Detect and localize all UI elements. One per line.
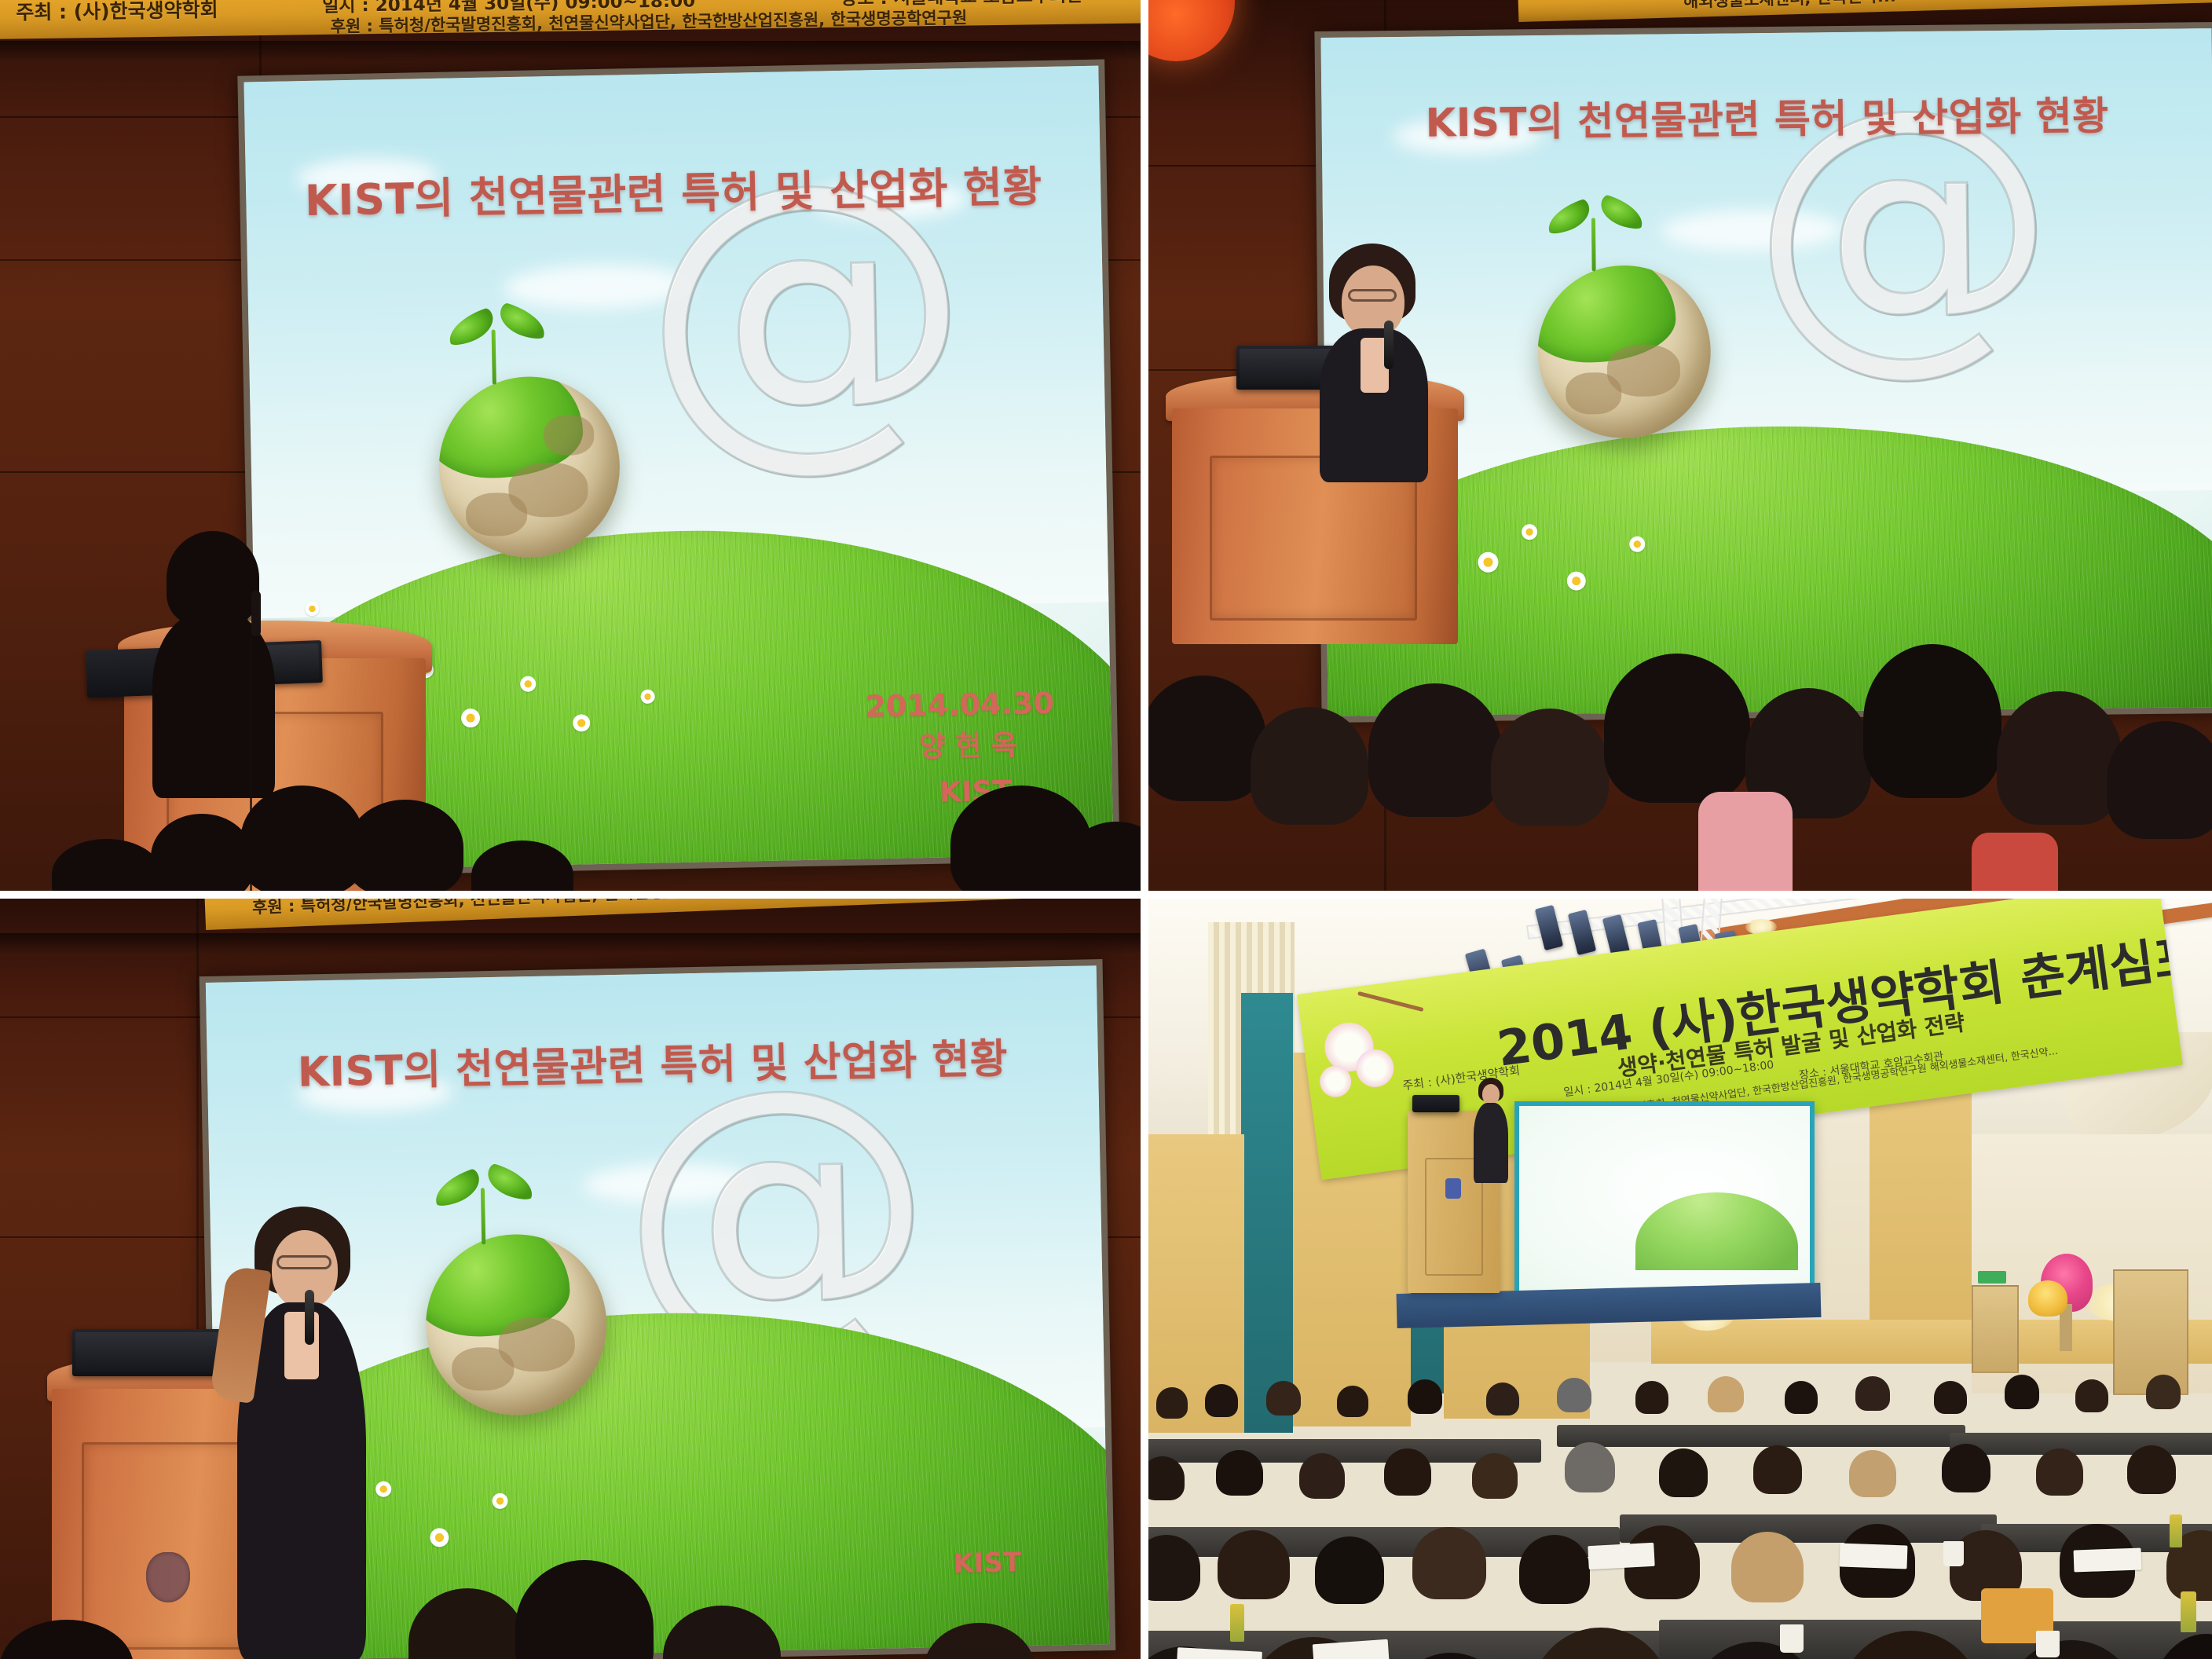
collage-divider-vertical — [1141, 0, 1148, 1659]
globe-landmass — [1566, 372, 1621, 415]
globe-graphic — [1537, 265, 1712, 439]
paper-cup — [1780, 1624, 1804, 1653]
audience-head — [1156, 1387, 1188, 1419]
audience-table — [1557, 1425, 1965, 1447]
handout-paper — [1840, 1544, 1908, 1569]
audience-head — [1412, 1527, 1486, 1599]
audience-head — [2107, 721, 2212, 839]
laptop-screen — [75, 1332, 218, 1373]
daisy — [1478, 551, 1498, 572]
audience-head — [1299, 1453, 1345, 1499]
audience-head — [1216, 1450, 1263, 1496]
audience-head — [1491, 709, 1609, 826]
audience-head — [1849, 1450, 1896, 1497]
laptop — [72, 1329, 222, 1376]
presenter-hair — [167, 531, 259, 625]
audience-head — [1205, 1384, 1238, 1417]
audience-head — [1557, 1378, 1591, 1412]
audience-head — [1337, 1386, 1368, 1417]
audience-table — [1950, 1433, 2212, 1455]
exit-sign — [1978, 1271, 2006, 1284]
podium-emblem — [146, 1552, 190, 1602]
hall-podium-emblem — [1445, 1178, 1461, 1199]
audience-head — [2127, 1445, 2176, 1494]
audience-head — [1785, 1381, 1818, 1414]
hall-presenter — [1474, 1078, 1508, 1183]
audience-head — [1635, 1381, 1668, 1414]
audience-head — [1659, 1448, 1708, 1497]
audience-head — [1384, 1448, 1431, 1496]
panel-top-left: 주최 : (사)한국생약학회 일시 : 2014년 4월 30일(수) 09:0… — [0, 0, 1141, 891]
audience-head — [347, 800, 463, 891]
audience-head — [1604, 654, 1750, 803]
audience-head — [1519, 1535, 1590, 1604]
banner-shadow — [0, 41, 1141, 61]
banner-sponsor-tail: 해외생물소재센터, 한국신약... — [1683, 0, 1896, 13]
banner-host-label: 주최 : (사)한국생약학회 — [16, 0, 218, 25]
audience-shoulder — [1972, 833, 2058, 891]
audience-head — [1565, 1442, 1615, 1492]
audience-head — [1942, 1444, 1990, 1492]
audience-head — [2075, 1379, 2108, 1412]
paper-cup — [2036, 1631, 2060, 1657]
audience-head — [1148, 1456, 1185, 1500]
globe-landmass — [543, 415, 594, 456]
presenter — [1321, 244, 1425, 479]
audience-head — [1863, 644, 2001, 798]
audience-head — [1997, 691, 2122, 825]
audience-head — [1251, 707, 1368, 825]
audience-head — [1218, 1530, 1290, 1599]
panel-bottom-right: 2014 (사)한국생약학회 춘계심포지엄 생약·천연물 특허 발굴 및 산업화… — [1148, 899, 2212, 1659]
audience-head — [1266, 1381, 1301, 1415]
hall-presenter-body — [1474, 1103, 1508, 1183]
audience-head — [1486, 1382, 1519, 1415]
audience-head — [2036, 1448, 2083, 1496]
daisy — [1567, 571, 1586, 590]
audience-area — [1148, 1339, 2212, 1659]
audience-head — [1753, 1445, 1802, 1494]
beverage-bottle — [1230, 1604, 1244, 1642]
globe-landmass — [452, 1346, 514, 1391]
slide-affiliation: KIST — [953, 1547, 1021, 1580]
beverage-bottle — [2181, 1591, 2196, 1632]
hall-laptop — [1412, 1095, 1459, 1112]
slide-presenter: 양 현 옥 — [919, 723, 1017, 765]
hall-screen-surface — [1519, 1106, 1810, 1293]
blossom-branch — [1357, 991, 1424, 1012]
presenter — [149, 531, 275, 798]
audience-head — [1855, 1376, 1890, 1411]
collage-divider-horizontal — [0, 891, 2212, 899]
glasses-icon — [276, 1255, 331, 1269]
presenter-body — [152, 613, 275, 798]
audience-head — [1731, 1532, 1804, 1602]
microphone — [251, 591, 261, 636]
at-symbol-icon: @ — [617, 1077, 936, 1335]
presenter-face — [1342, 266, 1404, 338]
glasses-icon — [1348, 289, 1397, 302]
audience-head — [1148, 676, 1266, 801]
audience-head — [240, 786, 364, 891]
daisy — [573, 714, 590, 731]
daisy — [492, 1492, 507, 1508]
photo-collage: 주최 : (사)한국생약학회 일시 : 2014년 4월 30일(수) 09:0… — [0, 0, 2212, 1659]
audience-head — [1408, 1379, 1442, 1414]
daisy — [1629, 537, 1645, 552]
daisy — [305, 601, 319, 615]
handout-paper — [2074, 1548, 2142, 1573]
handout-paper — [1588, 1543, 1654, 1569]
paper-cup — [1943, 1541, 1964, 1566]
hall-presenter-face — [1482, 1084, 1500, 1104]
audience-head — [2146, 1375, 2181, 1409]
slide-date: 2014.04.30 — [865, 686, 1054, 724]
audience-head — [1934, 1381, 1967, 1414]
audience-shoulder — [1698, 792, 1793, 891]
microphone — [1384, 320, 1393, 369]
audience-head — [1472, 1453, 1518, 1499]
panel-top-right: 해외생물소재센터, 한국신약... @ KIST의 천연물관련 특허 및 산업화… — [1148, 0, 2212, 891]
globe-landmass — [465, 492, 527, 537]
slide-title: KIST의 천연물관련 특허 및 산업화 현황 — [1321, 83, 2212, 149]
panel-bottom-left: 후원 : 특허청/한국발명진흥회, 천연물신약사업단, 한국한방산업진흥원, 한… — [0, 899, 1141, 1659]
audience-head — [1708, 1376, 1744, 1412]
flower-arrangement — [2028, 1280, 2067, 1317]
banner-shadow — [0, 933, 1141, 954]
hall-projection-screen — [1514, 1101, 1815, 1298]
beverage-bottle — [2170, 1514, 2182, 1547]
audience-head — [1315, 1536, 1384, 1604]
daisy — [640, 690, 654, 704]
hall-slide-graphic — [1635, 1192, 1798, 1271]
audience-head — [1368, 683, 1502, 817]
audience-head — [2005, 1375, 2039, 1409]
microphone — [305, 1290, 314, 1345]
